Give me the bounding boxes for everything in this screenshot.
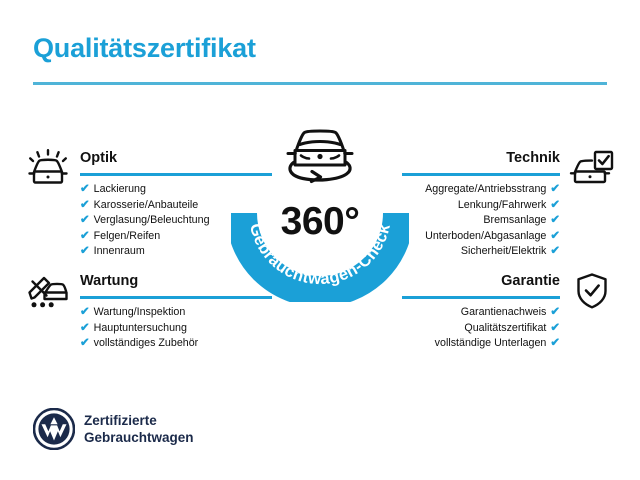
list-item-label: Lenkung/Fahrwerk xyxy=(458,198,547,214)
list-item: Bremsanlage ✔ xyxy=(425,213,560,229)
list-item-label: Karosserie/Anbauteile xyxy=(94,198,199,214)
check-icon: ✔ xyxy=(80,246,90,258)
check-icon: ✔ xyxy=(550,184,560,196)
check-icon: ✔ xyxy=(80,215,90,227)
section-heading-technik: Technik xyxy=(506,150,560,166)
list-item-label: Lackierung xyxy=(94,182,146,198)
section-divider-garantie xyxy=(402,296,560,299)
footer-line-1: Zertifizierte xyxy=(84,412,194,429)
list-item: Unterboden/Abgasanlage ✔ xyxy=(425,229,560,245)
section-divider-technik xyxy=(402,173,560,176)
check-icon: ✔ xyxy=(80,200,90,212)
list-item: Qualitätszertifikat ✔ xyxy=(435,321,560,337)
check-icon: ✔ xyxy=(80,323,90,335)
list-item-label: Hauptuntersuchung xyxy=(94,321,187,337)
list-item-label: Qualitätszertifikat xyxy=(464,321,546,337)
footer-brand-text: Zertifizierte Gebrauchtwagen xyxy=(84,412,194,446)
check-icon: ✔ xyxy=(80,184,90,196)
title-divider xyxy=(33,82,607,85)
list-item-label: Aggregate/Antriebsstrang xyxy=(425,182,546,198)
checklist-optik: ✔ Lackierung ✔ Karosserie/Anbauteile ✔ V… xyxy=(80,182,210,260)
list-item: ✔ Verglasung/Beleuchtung xyxy=(80,213,210,229)
checklist-garantie: Garantienachweis ✔ Qualitätszertifikat ✔… xyxy=(435,305,560,352)
list-item: ✔ vollständiges Zubehör xyxy=(80,336,198,352)
list-item: vollständige Unterlagen ✔ xyxy=(435,336,560,352)
list-item-label: Innenraum xyxy=(94,244,145,260)
list-item: Lenkung/Fahrwerk ✔ xyxy=(425,198,560,214)
list-item: ✔ Lackierung xyxy=(80,182,210,198)
check-icon: ✔ xyxy=(550,323,560,335)
section-heading-wartung: Wartung xyxy=(80,273,138,289)
checklist-wartung: ✔ Wartung/Inspektion ✔ Hauptuntersuchung… xyxy=(80,305,198,352)
list-item-label: Verglasung/Beleuchtung xyxy=(94,213,210,229)
section-heading-garantie: Garantie xyxy=(501,273,560,289)
check-icon: ✔ xyxy=(550,338,560,350)
service-book-pen-car-icon xyxy=(25,271,71,311)
list-item: Aggregate/Antriebsstrang ✔ xyxy=(425,182,560,198)
list-item-label: Garantienachweis xyxy=(461,305,547,321)
list-item: ✔ Felgen/Reifen xyxy=(80,229,210,245)
check-icon: ✔ xyxy=(550,200,560,212)
section-heading-optik: Optik xyxy=(80,150,117,166)
page-title: Qualitätszertifikat xyxy=(33,33,256,64)
badge-360-gebrauchtwagen-check: Gebrauchtwagen-Check 360° xyxy=(231,124,409,302)
list-item-label: Bremsanlage xyxy=(483,213,546,229)
footer-line-2: Gebrauchtwagen xyxy=(84,429,194,446)
check-icon: ✔ xyxy=(550,231,560,243)
badge-center-label: 360° xyxy=(281,200,360,243)
list-item-label: vollständige Unterlagen xyxy=(435,336,547,352)
list-item: ✔ Hauptuntersuchung xyxy=(80,321,198,337)
volkswagen-logo xyxy=(33,408,75,450)
list-item-label: Wartung/Inspektion xyxy=(94,305,186,321)
list-item: ✔ Innenraum xyxy=(80,244,210,260)
list-item: ✔ Karosserie/Anbauteile xyxy=(80,198,210,214)
check-icon: ✔ xyxy=(550,246,560,258)
car-checkbox-icon xyxy=(569,148,615,188)
list-item-label: Sicherheit/Elektrik xyxy=(461,244,547,260)
qualitaetszertifikat-page: Qualitätszertifikat Optik ✔ Lackierung xyxy=(0,0,640,480)
list-item-label: Unterboden/Abgasanlage xyxy=(425,229,546,245)
checklist-technik: Aggregate/Antriebsstrang ✔ Lenkung/Fahrw… xyxy=(425,182,560,260)
list-item-label: vollständiges Zubehör xyxy=(94,336,199,352)
check-icon: ✔ xyxy=(550,215,560,227)
list-item: Garantienachweis ✔ xyxy=(435,305,560,321)
car-rotate-360-icon xyxy=(276,122,364,184)
list-item: ✔ Wartung/Inspektion xyxy=(80,305,198,321)
car-shine-icon xyxy=(25,148,71,188)
check-icon: ✔ xyxy=(80,231,90,243)
list-item-label: Felgen/Reifen xyxy=(94,229,161,245)
list-item: Sicherheit/Elektrik ✔ xyxy=(425,244,560,260)
check-icon: ✔ xyxy=(80,307,90,319)
check-icon: ✔ xyxy=(80,338,90,350)
check-icon: ✔ xyxy=(550,307,560,319)
shield-check-icon xyxy=(569,271,615,311)
